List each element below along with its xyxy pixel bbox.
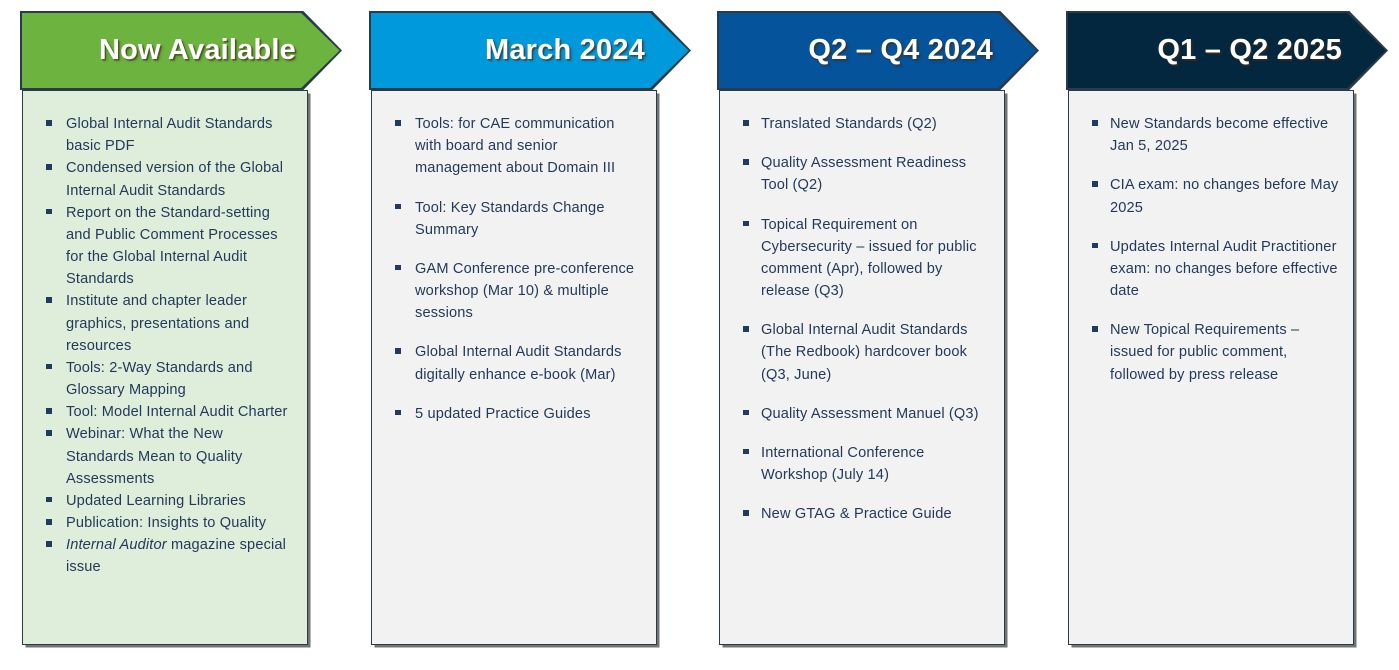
column-body-panel: Tools: for CAE communication with board … — [371, 90, 657, 645]
column-body-panel: Global Internal Audit Standards basic PD… — [22, 90, 308, 645]
list-item: Condensed version of the Global Internal… — [35, 157, 293, 201]
list-item: New GTAG & Practice Guide — [732, 503, 990, 525]
list-item: Tools: 2-Way Standards and Glossary Mapp… — [35, 357, 293, 401]
list-item: Tools: for CAE communication with board … — [384, 113, 642, 180]
timeline-column-march-2024: March 2024 Tools: for CAE communication … — [349, 0, 697, 670]
column-body-panel: Translated Standards (Q2) Quality Assess… — [719, 90, 1005, 645]
list-item: Quality Assessment Manuel (Q3) — [732, 403, 990, 425]
timeline-column-now-available: Now Available Global Internal Audit Stan… — [0, 0, 348, 670]
list-item: New Topical Requirements – issued for pu… — [1081, 319, 1339, 386]
list-item: CIA exam: no changes before May 2025 — [1081, 174, 1339, 218]
list-item: New Standards become effective Jan 5, 20… — [1081, 113, 1339, 157]
column-body-panel: New Standards become effective Jan 5, 20… — [1068, 90, 1354, 645]
list-item: Report on the Standard-setting and Publi… — [35, 202, 293, 291]
list-item: Translated Standards (Q2) — [732, 113, 990, 135]
column-header-label: Now Available — [20, 11, 342, 90]
list-item: Global Internal Audit Standards (The Red… — [732, 319, 990, 386]
bullet-list: New Standards become effective Jan 5, 20… — [1069, 91, 1353, 413]
list-item: Updated Learning Libraries — [35, 490, 293, 512]
roadmap-diagram: Now Available Global Internal Audit Stan… — [0, 0, 1399, 670]
bullet-list: Global Internal Audit Standards basic PD… — [23, 91, 307, 589]
column-header-label: March 2024 — [369, 11, 691, 90]
list-item-italic-magazine: Internal Auditor magazine special issue — [35, 534, 293, 578]
timeline-column-q1-q2-2025: Q1 – Q2 2025 New Standards become effect… — [1046, 0, 1394, 670]
timeline-column-q2-q4-2024: Q2 – Q4 2024 Translated Standards (Q2) Q… — [697, 0, 1045, 670]
bullet-list: Translated Standards (Q2) Quality Assess… — [720, 91, 1004, 552]
list-item: Tool: Key Standards Change Summary — [384, 197, 642, 241]
list-item: Global Internal Audit Standards digitall… — [384, 341, 642, 385]
bullet-list: Tools: for CAE communication with board … — [372, 91, 656, 452]
list-item: Updates Internal Audit Practitioner exam… — [1081, 236, 1339, 303]
column-header-label: Q1 – Q2 2025 — [1066, 11, 1388, 90]
list-item: Institute and chapter leader graphics, p… — [35, 290, 293, 357]
list-item: Quality Assessment Readiness Tool (Q2) — [732, 152, 990, 196]
list-item: Publication: Insights to Quality — [35, 512, 293, 534]
list-item: International Conference Workshop (July … — [732, 442, 990, 486]
list-item: Tool: Model Internal Audit Charter — [35, 401, 293, 423]
magazine-title: Internal Auditor — [66, 537, 167, 553]
list-item: Webinar: What the New Standards Mean to … — [35, 423, 293, 490]
list-item: 5 updated Practice Guides — [384, 403, 642, 425]
list-item: Topical Requirement on Cybersecurity – i… — [732, 214, 990, 303]
column-header-label: Q2 – Q4 2024 — [717, 11, 1039, 90]
list-item: GAM Conference pre-conference workshop (… — [384, 258, 642, 325]
list-item: Global Internal Audit Standards basic PD… — [35, 113, 293, 157]
